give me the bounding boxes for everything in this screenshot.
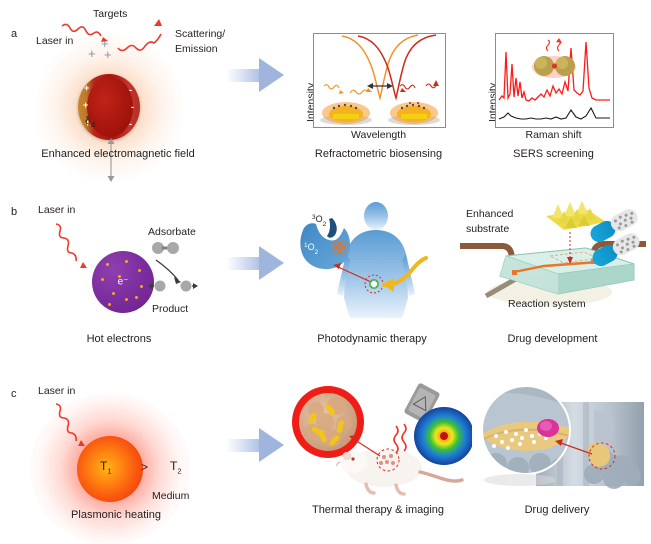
electron-label: e⁻	[118, 277, 129, 288]
scattering-label-line1: Scattering/	[175, 28, 225, 40]
adsorbate-label: Adsorbate	[148, 226, 196, 238]
medium-label: Medium	[152, 490, 189, 502]
targets-label: Targets	[93, 8, 127, 20]
hot-carrier-dot	[125, 260, 128, 263]
nanoparticle-dimer	[532, 56, 576, 78]
refractometric-caption: Refractometric biosensing	[291, 148, 466, 160]
chart1-xlabel: Wavelength	[313, 129, 444, 141]
thermal-therapy-illustration	[292, 380, 472, 500]
laser-in-label-b: Laser in	[38, 204, 75, 216]
panel-a-mechanism-caption: Enhanced electromagnetic field	[0, 148, 236, 160]
drug-development-caption: Drug development	[470, 333, 635, 345]
product-label: Product	[152, 303, 188, 315]
arrow-shaft	[226, 69, 262, 82]
drug-delivery-caption: Drug delivery	[478, 504, 636, 516]
drug-delivery-illustration	[474, 384, 646, 500]
hot-carrier-dot	[118, 275, 121, 278]
arrow-shaft	[226, 439, 262, 452]
panel-c: c Laser in T1 > T2 Medium Plasmonic heat…	[0, 368, 651, 534]
sers-plot	[496, 34, 613, 127]
temp-outer-subscript: 2	[177, 466, 181, 475]
nanostructure-right	[388, 102, 440, 125]
plasmonic-nanoparticle-a: + + + - - -	[78, 74, 140, 140]
reaction-system-label: Reaction system	[508, 298, 586, 310]
thermal-therapy-caption: Thermal therapy & imaging	[288, 504, 468, 516]
arrow-head	[259, 58, 284, 92]
laser-in-label-c: Laser in	[38, 385, 75, 397]
refractometric-chart	[313, 33, 446, 128]
panel-letter-c: c	[11, 388, 17, 400]
scattering-emission-arrow	[115, 14, 175, 58]
transition-arrow-a	[226, 58, 284, 92]
figure-canvas: a + + + - - - + + +	[0, 0, 651, 534]
sers-chart	[495, 33, 614, 128]
arrow-head	[259, 246, 284, 280]
charge-minus: -	[129, 86, 132, 95]
transition-arrow-c	[226, 428, 284, 462]
charge-plus: +	[83, 101, 88, 110]
tumour-callout	[292, 386, 364, 458]
panel-a: a + + + - - - + + +	[0, 0, 651, 178]
shift-double-arrow	[367, 83, 393, 89]
photodynamic-caption: Photodynamic therapy	[288, 333, 456, 345]
sers-caption: SERS screening	[476, 148, 631, 160]
enhanced-substrate-label-line2: substrate	[466, 223, 509, 235]
comparator-symbol: >	[141, 460, 148, 474]
hot-carrier-dot	[112, 292, 115, 295]
temp-inner-subscript: 1	[107, 466, 111, 475]
charge-minus: -	[129, 120, 132, 129]
hot-carrier-dot	[125, 298, 128, 301]
temperature-outer-label: T2	[170, 459, 182, 475]
panel-letter-a: a	[11, 28, 17, 40]
temperature-inner-label: T1	[100, 459, 112, 475]
scattering-label-line2: Emission	[175, 43, 218, 55]
laser-in-arrow-c	[52, 400, 110, 454]
decay-subscript: d	[91, 120, 95, 129]
refractometric-plot	[314, 34, 445, 127]
decay-length-arrow	[104, 138, 118, 182]
surface-reaction-diagram	[148, 236, 224, 306]
arrow-head	[259, 428, 284, 462]
hot-electron-nanoparticle: e⁻	[92, 251, 154, 313]
panel-c-mechanism-caption: Plasmonic heating	[0, 509, 232, 521]
nanostructure-left	[320, 102, 372, 125]
hot-carrier-dot	[135, 296, 138, 299]
chart2-xlabel: Raman shift	[495, 129, 612, 141]
hot-carrier-dot	[140, 285, 143, 288]
laser-in-label-a: Laser in	[36, 35, 73, 47]
adsorbate-molecule	[152, 242, 179, 254]
arrow-shaft	[226, 257, 262, 270]
hot-carrier-dot	[101, 278, 104, 281]
hot-carrier-dot	[138, 269, 141, 272]
panel-letter-b: b	[11, 206, 17, 218]
hot-carrier-dot	[108, 303, 111, 306]
charge-minus: -	[131, 103, 134, 112]
transition-arrow-b	[226, 246, 284, 280]
decay-length-label: δd	[85, 115, 95, 129]
thermal-image	[414, 407, 472, 465]
panel-b: b Laser in e⁻	[0, 178, 651, 368]
product-molecule-right	[181, 281, 199, 292]
charge-plus: +	[84, 84, 89, 93]
photodynamic-therapy-illustration: 3O2 1O2	[296, 200, 446, 320]
hot-carrier-dot	[106, 263, 109, 266]
human-silhouette	[337, 202, 415, 318]
enhanced-substrate-label-line1: Enhanced	[466, 208, 513, 220]
panel-b-mechanism-caption: Hot electrons	[0, 333, 238, 345]
product-molecule-left	[148, 281, 166, 292]
